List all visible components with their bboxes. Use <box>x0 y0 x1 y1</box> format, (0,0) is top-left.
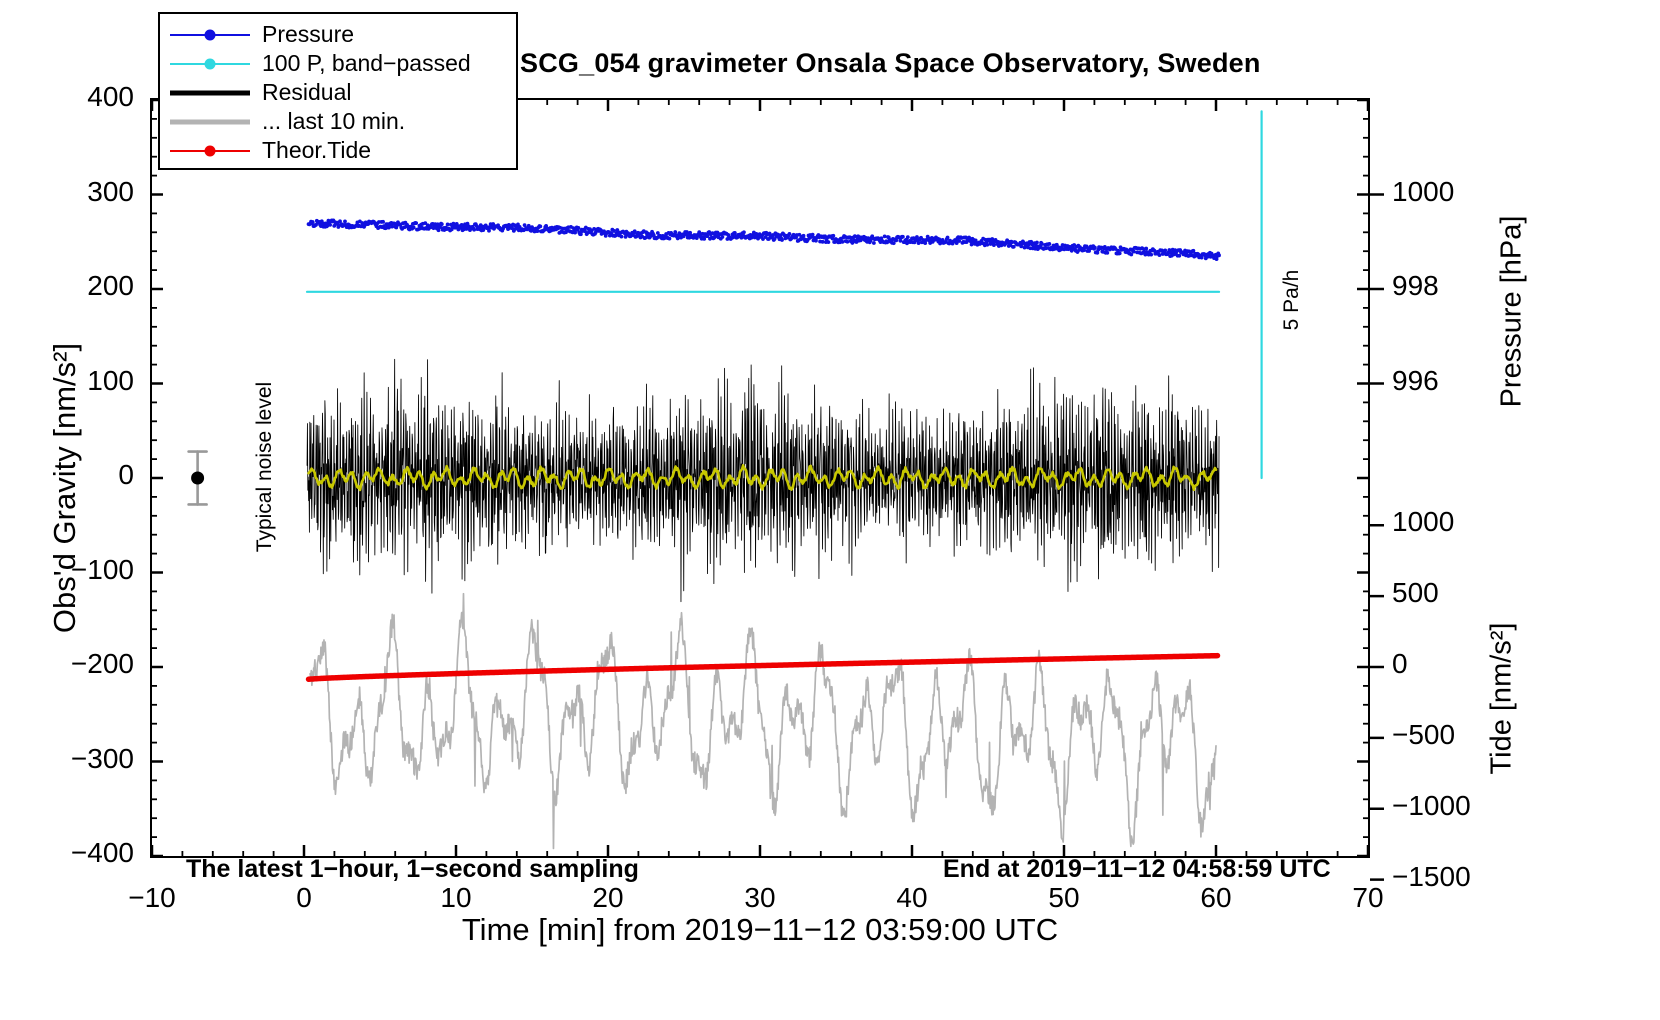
legend-item-1[interactable]: 100 P, band−passed <box>168 49 508 78</box>
footer-note-right: End at 2019−11−12 04:58:59 UTC <box>943 855 1331 884</box>
typical-noise-level-label: Typical noise level <box>253 352 277 582</box>
y-tick-label: −300 <box>24 743 134 775</box>
y-tick-label: 200 <box>24 270 134 302</box>
legend-swatch-icon <box>168 111 252 133</box>
tide-tick-label: 1000 <box>1392 506 1512 538</box>
plot-svg <box>152 100 1368 856</box>
tide-tick-label: 0 <box>1392 648 1512 680</box>
x-tick-label: 10 <box>401 882 511 914</box>
y-tick-label: −200 <box>24 648 134 680</box>
x-tick-label: 50 <box>1009 882 1119 914</box>
x-tick-label: 0 <box>249 882 359 914</box>
legend-label: Pressure <box>262 21 354 48</box>
y-tick-label: 0 <box>24 459 134 491</box>
legend-swatch-icon <box>168 24 252 46</box>
y-tick-label: 100 <box>24 365 134 397</box>
plot-area <box>150 98 1370 858</box>
pressure-scale-bar-label: 5 Pa/h <box>1280 220 1304 380</box>
legend-swatch-icon <box>168 82 252 104</box>
legend-label: Residual <box>262 79 352 106</box>
figure-canvas: SCG_054 gravimeter Onsala Space Observat… <box>0 0 1660 1020</box>
tide-tick-label: −1500 <box>1392 861 1512 893</box>
y-tick-label: −100 <box>24 554 134 586</box>
pressure-tick-label: 998 <box>1392 270 1512 302</box>
legend-swatch-icon <box>168 140 252 162</box>
y-tick-label: −400 <box>24 837 134 869</box>
y-tick-label: 400 <box>24 81 134 113</box>
x-tick-label: 40 <box>857 882 967 914</box>
x-tick-label: 30 <box>705 882 815 914</box>
pressure-tick-label: 1000 <box>1392 176 1512 208</box>
x-tick-label: 20 <box>553 882 663 914</box>
tide-tick-label: −500 <box>1392 719 1512 751</box>
pressure-tick-label: 996 <box>1392 365 1512 397</box>
legend-item-2[interactable]: Residual <box>168 78 508 107</box>
legend-label: ... last 10 min. <box>262 108 405 135</box>
tide-tick-label: 500 <box>1392 577 1512 609</box>
x-tick-label: 60 <box>1161 882 1271 914</box>
legend-item-0[interactable]: Pressure <box>168 20 508 49</box>
legend-item-3[interactable]: ... last 10 min. <box>168 107 508 136</box>
legend-item-4[interactable]: Theor.Tide <box>168 136 508 165</box>
chart-title: SCG_054 gravimeter Onsala Space Observat… <box>520 48 1380 79</box>
footer-note-left: The latest 1−hour, 1−second sampling <box>186 855 639 884</box>
x-tick-label: −10 <box>97 882 207 914</box>
legend-swatch-icon <box>168 53 252 75</box>
tide-tick-label: −1000 <box>1392 790 1512 822</box>
legend-label: 100 P, band−passed <box>262 50 471 77</box>
x-axis-title: Time [min] from 2019−11−12 03:59:00 UTC <box>150 912 1370 948</box>
y-tick-label: 300 <box>24 176 134 208</box>
legend-label: Theor.Tide <box>262 137 371 164</box>
legend-box[interactable]: Pressure100 P, band−passedResidual... la… <box>158 12 518 170</box>
